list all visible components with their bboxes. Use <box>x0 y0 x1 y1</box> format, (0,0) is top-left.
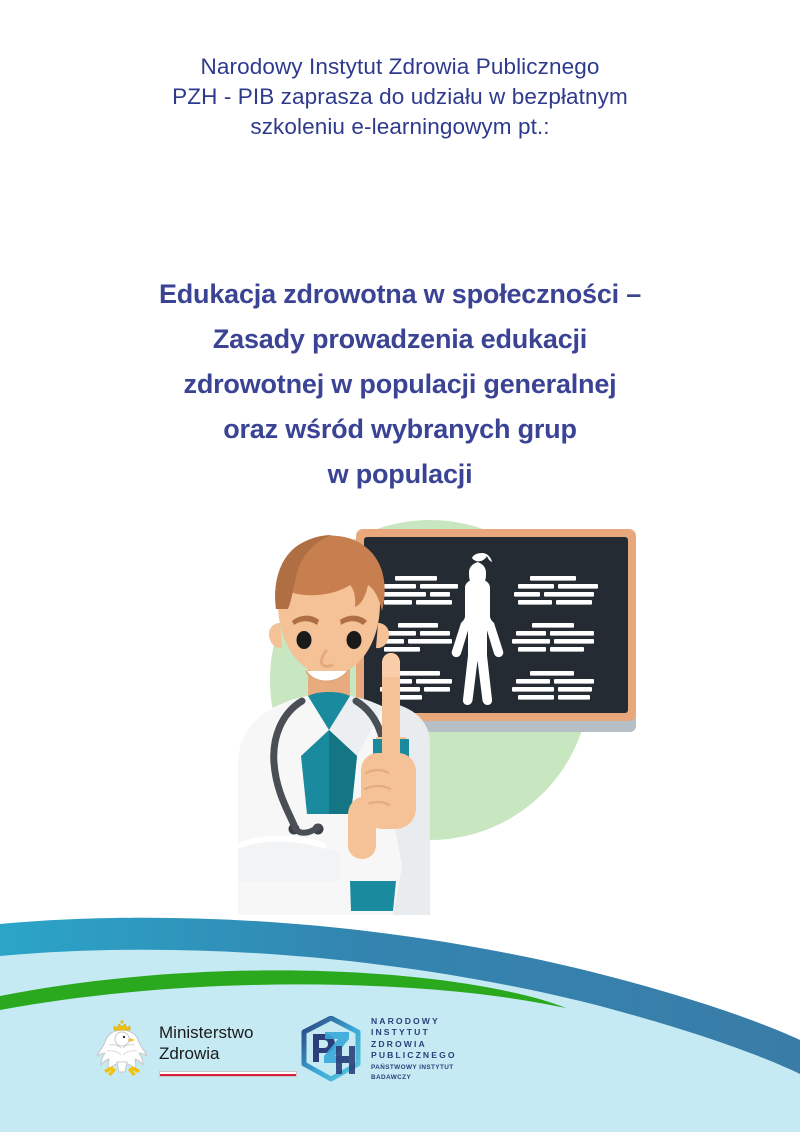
title-line-3: zdrowotnej w populacji generalnej <box>0 362 800 407</box>
title-line-1: Edukacja zdrowotna w społeczności – <box>0 272 800 317</box>
header-line-2: PZH - PIB zaprasza do udziału w bezpłatn… <box>0 82 800 112</box>
training-title: Edukacja zdrowotna w społeczności – Zasa… <box>0 272 800 497</box>
pzh-nizp-logo: NARODOWY INSTYTUT ZDROWIA PUBLICZNEGO PA… <box>300 1016 457 1083</box>
pzh-text-line-1: NARODOWY <box>371 1016 457 1027</box>
pzh-subtext-line-2: BADAWCZY <box>371 1074 457 1083</box>
pzh-text-line-4: PUBLICZNEGO <box>371 1050 457 1061</box>
pzh-text-line-2: INSTYTUT <box>371 1027 457 1038</box>
pzh-text-line-3: ZDROWIA <box>371 1039 457 1050</box>
header-invitation-text: Narodowy Instytut Zdrowia Publicznego PZ… <box>0 52 800 142</box>
ministry-name-line-2: Zdrowia <box>159 1043 297 1064</box>
title-line-4: oraz wśród wybranych grup <box>0 407 800 452</box>
polish-flag-bar <box>159 1071 297 1077</box>
ministry-name-line-1: Ministerstwo <box>159 1022 297 1043</box>
doctor-eye-left <box>297 631 312 649</box>
poster-root: Narodowy Instytut Zdrowia Publicznego PZ… <box>0 0 800 1132</box>
title-line-5: w populacji <box>0 452 800 497</box>
header-line-3: szkoleniu e-learningowym pt.: <box>0 112 800 142</box>
title-line-2: Zasady prowadzenia edukacji <box>0 317 800 362</box>
polish-eagle-emblem <box>95 1018 149 1080</box>
pzh-hexagon-monogram <box>300 1016 362 1082</box>
pzh-subtext-line-1: PAŃSTWOWY INSTYTUT <box>371 1064 457 1073</box>
header-line-1: Narodowy Instytut Zdrowia Publicznego <box>0 52 800 82</box>
footer-logo-row: Ministerstwo Zdrowia <box>0 1010 800 1100</box>
doctor-eye-right <box>347 631 362 649</box>
doctor-raised-arm-cuff <box>350 881 396 911</box>
ministerstwo-zdrowia-logo: Ministerstwo Zdrowia <box>95 1018 297 1080</box>
doctor-ear-left <box>269 623 282 648</box>
doctor-blackboard-illustration <box>230 505 650 915</box>
